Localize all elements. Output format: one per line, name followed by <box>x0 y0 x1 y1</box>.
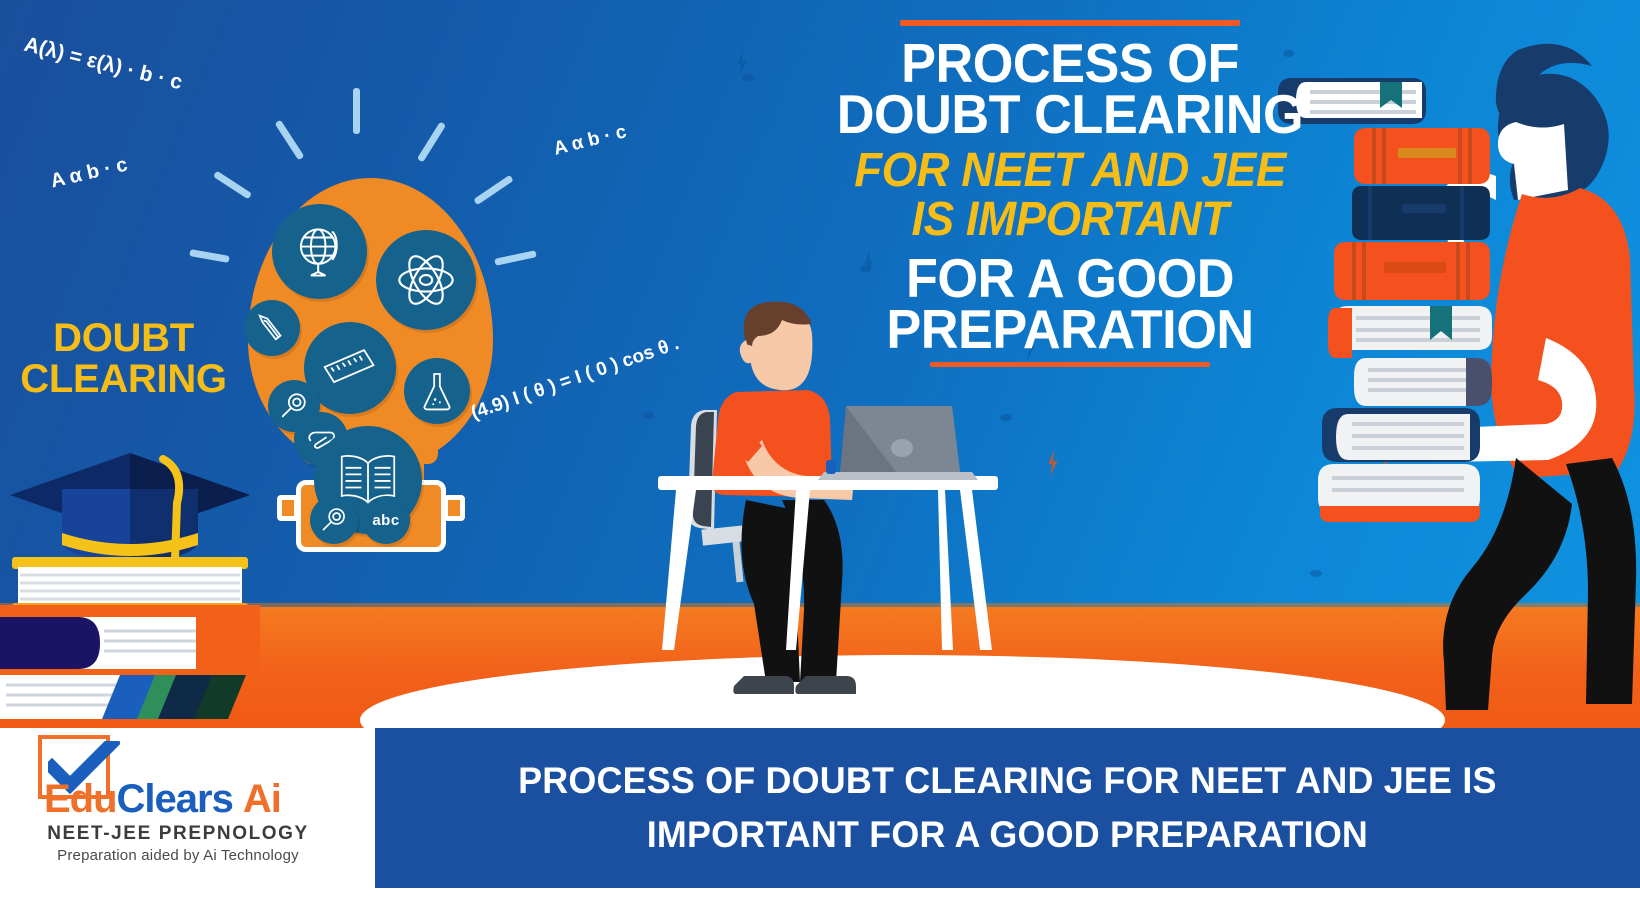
footer-banner: PROCESS OF DOUBT CLEARING FOR NEET AND J… <box>375 728 1640 888</box>
headline-line-2: DOUBT CLEARING <box>833 89 1308 140</box>
flask-icon <box>404 358 470 424</box>
student-carrying-books-illustration <box>1270 18 1640 728</box>
doubt-clearing-line-1: DOUBT <box>16 318 231 359</box>
headline-block: PROCESS OF DOUBT CLEARING FOR NEET AND J… <box>820 12 1320 367</box>
logo-tagline: Preparation aided by Ai Technology <box>38 847 318 864</box>
headline-rule-bottom <box>930 362 1210 367</box>
pencil-icon <box>244 300 300 356</box>
doubt-clearing-label: DOUBT CLEARING <box>16 318 231 400</box>
brand-logo[interactable]: EduClearsAi NEET-JEE PREPNOLOGY Preparat… <box>38 735 338 865</box>
footer-line-2: IMPORTANT FOR A GOOD PREPARATION <box>518 808 1497 862</box>
abc-label: abc <box>372 512 399 529</box>
headline-highlight-2: IS IMPORTANT <box>833 196 1308 245</box>
logo-word-ai: Ai <box>243 777 281 821</box>
logo-wordmark: EduClearsAi <box>44 777 281 822</box>
magnifier-small-icon <box>310 496 358 544</box>
footer-line-1: PROCESS OF DOUBT CLEARING FOR NEET AND J… <box>518 754 1497 808</box>
headline-line-1: PROCESS OF <box>833 38 1308 89</box>
globe-icon <box>272 204 367 299</box>
footer-text: PROCESS OF DOUBT CLEARING FOR NEET AND J… <box>518 754 1497 861</box>
headline-rule-top <box>900 20 1240 26</box>
atom-icon <box>376 230 476 330</box>
poster-root: abc <box>0 0 1640 924</box>
logo-word-edu: Edu <box>44 777 117 821</box>
doubt-clearing-line-2: CLEARING <box>16 359 231 400</box>
abc-icon: abc <box>362 496 410 544</box>
headline-line-3: FOR A GOOD <box>833 253 1308 304</box>
logo-word-clears: Clears <box>117 777 233 821</box>
headline-highlight-1: FOR NEET AND JEE <box>833 147 1308 196</box>
logo-subtitle: NEET-JEE PREPNOLOGY <box>38 823 318 845</box>
graduation-cap-and-books <box>0 425 260 725</box>
headline-line-4: PREPARATION <box>833 304 1308 355</box>
